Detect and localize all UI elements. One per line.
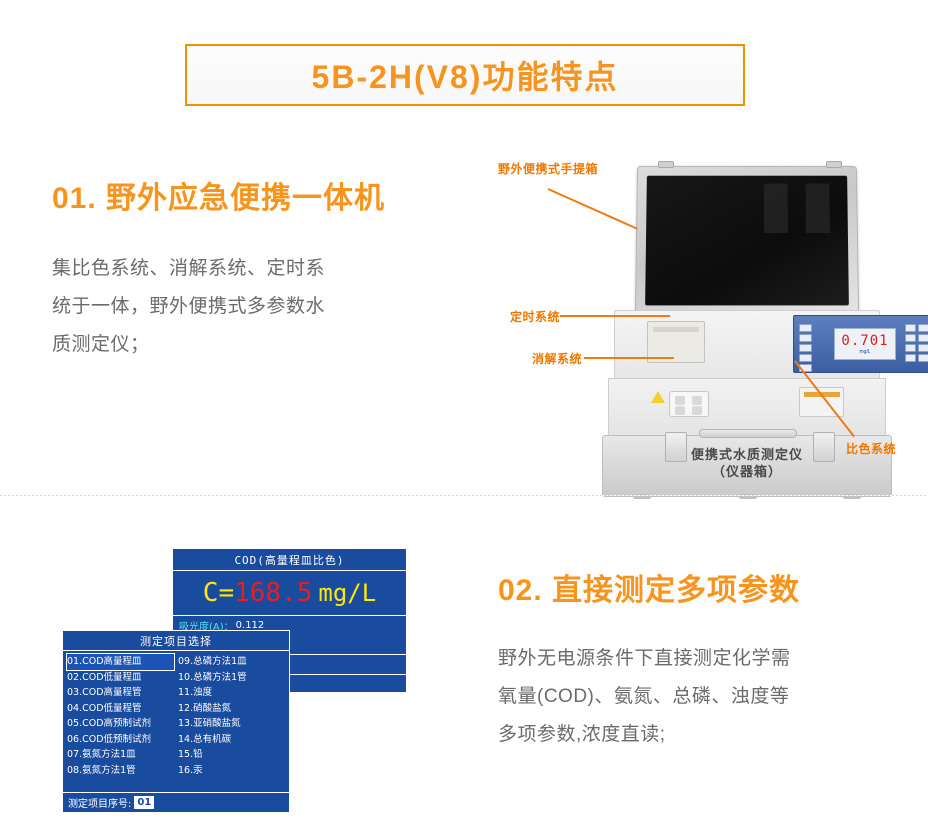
keypad-key[interactable] — [918, 324, 928, 332]
digestion-well — [669, 391, 709, 417]
case-label-line2: （仪器箱） — [603, 463, 891, 480]
menu-item-01[interactable]: 01.COD高量程皿 — [67, 654, 174, 670]
menu-item-10[interactable]: 10.总磷方法1管 — [178, 670, 285, 686]
keypad-key[interactable] — [918, 334, 928, 342]
menu-item-07[interactable]: 07.氨氮方法1皿 — [67, 747, 174, 763]
callout-leader-portable-case — [548, 188, 638, 230]
menu-item-grid: 01.COD高量程皿 09.总磷方法1皿 02.COD低量程皿 10.总磷方法1… — [63, 651, 289, 780]
menu-item-11[interactable]: 11.浊度 — [178, 685, 285, 701]
side-key[interactable] — [799, 344, 812, 352]
product-photo: 0.701 mg/L — [490, 150, 928, 485]
menu-item-13[interactable]: 13.亚硝酸盐氮 — [178, 716, 285, 732]
side-key[interactable] — [799, 334, 812, 342]
menu-item-14[interactable]: 14.总有机碳 — [178, 732, 285, 748]
page-title: 5B-2H(V8)功能特点 — [312, 52, 619, 98]
keypad-key[interactable] — [905, 344, 916, 352]
case-lid-foam — [645, 176, 849, 306]
result-c-label: C= — [203, 578, 234, 608]
menu-footer-value[interactable]: 01 — [135, 797, 153, 808]
result-unit: mg/L — [318, 579, 376, 607]
lid-hinge-right — [826, 161, 842, 168]
menu-item-09[interactable]: 09.总磷方法1皿 — [178, 654, 285, 670]
keypad-key[interactable] — [918, 344, 928, 352]
callout-timer-system: 定时系统 — [510, 308, 560, 325]
section-01-heading: 01. 野外应急便携一体机 — [52, 173, 385, 217]
callout-leader-timer-system — [560, 315, 670, 317]
menu-item-04[interactable]: 04.COD低量程管 — [67, 701, 174, 717]
menu-item-15[interactable]: 15.铅 — [178, 747, 285, 763]
keypad-key[interactable] — [905, 334, 916, 342]
callout-portable-case: 野外便携式手提箱 — [498, 160, 598, 177]
page-title-box: 5B-2H(V8)功能特点 — [185, 44, 745, 106]
well-hole — [692, 406, 702, 415]
case-handle[interactable] — [699, 429, 797, 438]
menu-item-16[interactable]: 16.汞 — [178, 763, 285, 779]
keypad-key[interactable] — [905, 324, 916, 332]
keypad-key[interactable] — [918, 354, 928, 362]
section-02-heading: 02. 直接测定多项参数 — [498, 565, 800, 609]
instrument-screens: COD(高量程皿比色) C= 168.5 mg/L 吸光度(A)： 0.112 … — [62, 545, 412, 830]
menu-footer-label: 测定项目序号: — [68, 795, 131, 810]
lid-strap-right — [806, 184, 830, 233]
panel-side-keys[interactable] — [799, 324, 812, 372]
panel-display: 0.701 mg/L — [834, 328, 896, 360]
printer-slot — [653, 327, 699, 332]
section-02-body: 野外无电源条件下直接测定化学需 氧量(COD)、氨氮、总磷、浊度等 多项参数,浓… — [498, 640, 898, 754]
menu-item-03[interactable]: 03.COD高量程管 — [67, 685, 174, 701]
side-key[interactable] — [799, 354, 812, 362]
instrument-deck: 0.701 mg/L — [614, 310, 880, 382]
well-hole — [692, 396, 702, 405]
section-01-body: 集比色系统、消解系统、定时系 统于一体，野外便携式多参数水 质测定仪； — [52, 250, 412, 364]
menu-footer: 测定项目序号: 01 — [63, 792, 289, 812]
page-root: 5B-2H(V8)功能特点 01. 野外应急便携一体机 集比色系统、消解系统、定… — [0, 0, 928, 840]
result-screen-value-row: C= 168.5 mg/L — [173, 571, 406, 616]
result-value: 168.5 — [234, 578, 312, 608]
control-panel: 0.701 mg/L — [793, 315, 928, 373]
case-lid — [635, 166, 859, 316]
menu-item-02[interactable]: 02.COD低量程皿 — [67, 670, 174, 686]
menu-screen-title: 测定项目选择 — [63, 631, 289, 651]
lid-hinge-left — [658, 161, 674, 168]
menu-item-06[interactable]: 06.COD低预制试剂 — [67, 732, 174, 748]
menu-item-05[interactable]: 05.COD高预制试剂 — [67, 716, 174, 732]
callout-digestion-system: 消解系统 — [532, 350, 582, 367]
panel-display-value: 0.701 — [841, 333, 888, 349]
panel-keypad[interactable] — [905, 324, 928, 362]
menu-item-12[interactable]: 12.硝酸盐氮 — [178, 701, 285, 717]
well-hole — [675, 406, 685, 415]
section-divider — [0, 495, 928, 496]
callout-colorimetric-system: 比色系统 — [846, 440, 896, 457]
lid-strap-left — [764, 184, 788, 233]
result-screen-header: COD(高量程皿比色) — [173, 549, 406, 571]
side-key[interactable] — [799, 324, 812, 332]
warning-triangle-icon — [651, 391, 665, 403]
keypad-key[interactable] — [905, 354, 916, 362]
callout-leader-digestion-system — [584, 357, 674, 359]
well-hole — [675, 396, 685, 405]
panel-display-unit: mg/L — [859, 349, 870, 355]
menu-screen: 测定项目选择 01.COD高量程皿 09.总磷方法1皿 02.COD低量程皿 1… — [62, 630, 290, 813]
menu-item-08[interactable]: 08.氨氮方法1管 — [67, 763, 174, 779]
